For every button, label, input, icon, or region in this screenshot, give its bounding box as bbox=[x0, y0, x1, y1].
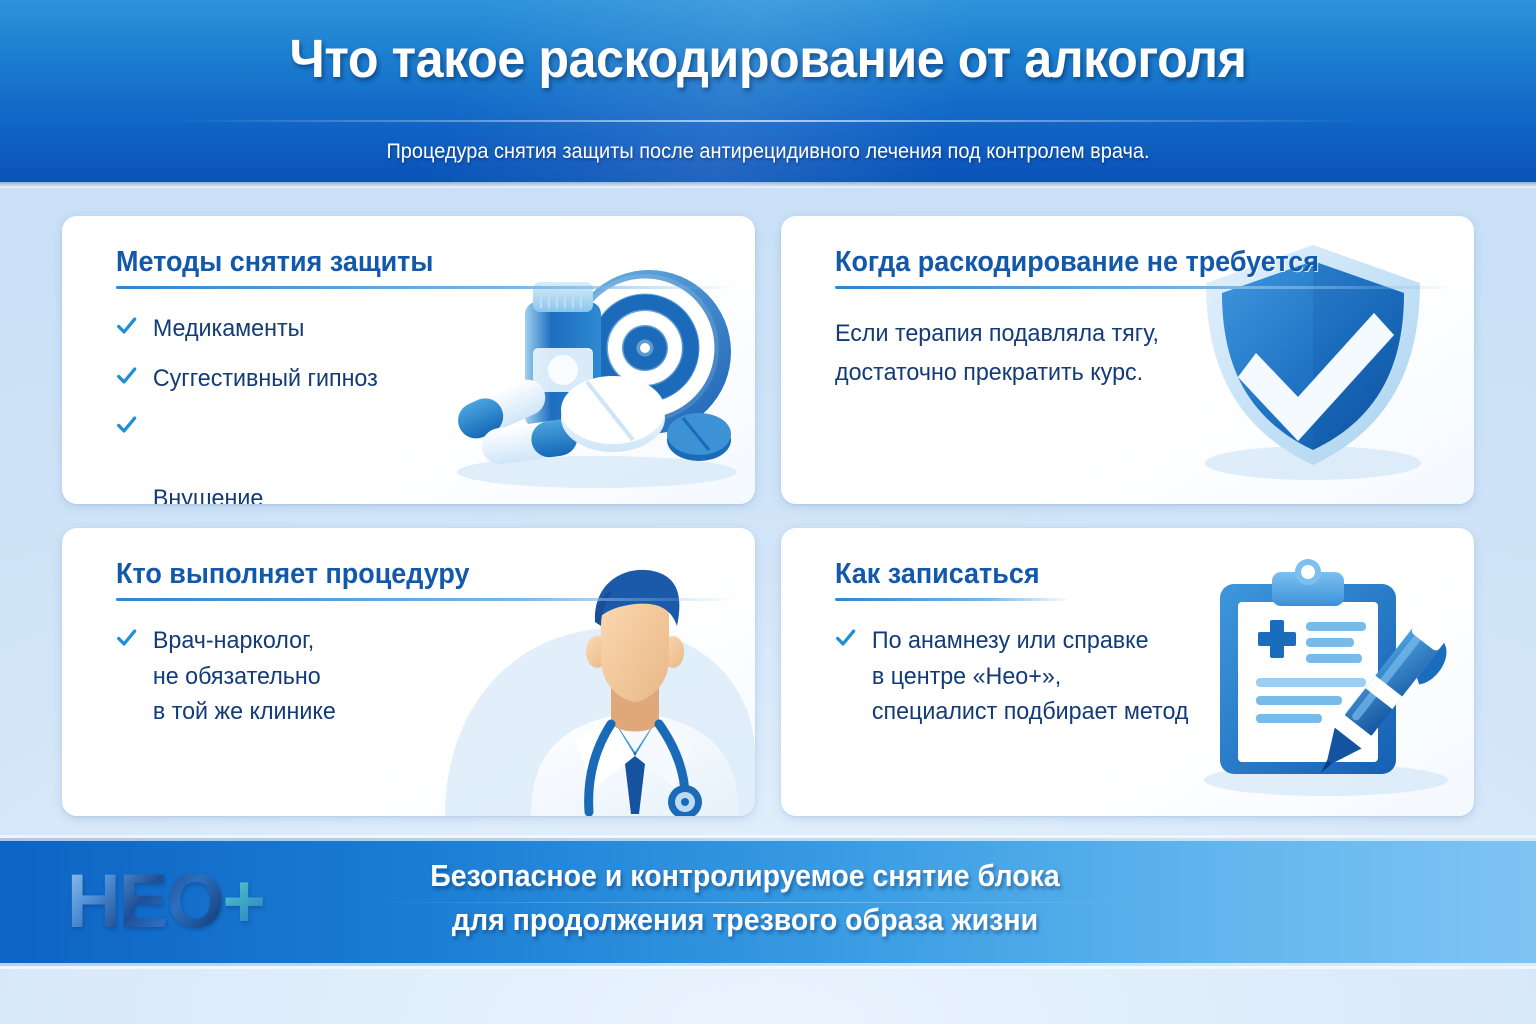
list-item[interactable]: Внушение по системе Довженко bbox=[116, 410, 716, 504]
list-item-label: Внушение по системе Довженко bbox=[153, 485, 386, 504]
card-who-performs-underline bbox=[116, 598, 735, 601]
check-icon bbox=[116, 315, 137, 337]
list-item[interactable]: По анамнезу или справке в центре «Нео+»,… bbox=[835, 623, 1435, 730]
footer-tagline-line-1: Безопасное и контролируемое снятие блока bbox=[391, 854, 1099, 898]
footer-tagline-divider bbox=[360, 902, 1150, 903]
check-icon bbox=[116, 627, 137, 649]
list-item[interactable]: Медикаменты bbox=[116, 311, 716, 347]
card-methods-underline bbox=[116, 286, 735, 289]
list-item[interactable]: Врач-нарколог, не обязательно в той же к… bbox=[116, 623, 716, 730]
card-who-performs[interactable]: Кто выполняет процедуру Врач-нарколог, н… bbox=[62, 528, 755, 816]
card-when-not-needed-heading: Когда раскодирование не требуется bbox=[835, 246, 1411, 279]
list-item-label: Суггестивный гипноз bbox=[153, 365, 378, 392]
brand-logo-plus-icon: + bbox=[222, 859, 264, 944]
cards-grid: Методы снятия защиты Медикаменты Суггест… bbox=[62, 216, 1474, 816]
list-item[interactable]: Суггестивный гипноз bbox=[116, 361, 716, 397]
card-when-not-needed-content: Когда раскодирование не требуется Если т… bbox=[835, 246, 1454, 393]
header-banner: Что такое раскодирование от алкоголя Про… bbox=[0, 0, 1536, 188]
page-subtitle: Процедура снятия защиты после антирециди… bbox=[38, 140, 1497, 164]
check-icon bbox=[116, 414, 137, 436]
footer-tagline: Безопасное и контролируемое снятие блока… bbox=[391, 854, 1099, 942]
card-who-performs-heading: Кто выполняет процедуру bbox=[116, 558, 692, 591]
card-when-not-needed-underline bbox=[835, 286, 1454, 289]
card-methods-list: Медикаменты Суггестивный гипноз Внушение… bbox=[116, 311, 735, 504]
check-icon bbox=[116, 365, 137, 387]
footer-tagline-line-2: для продолжения трезвого образа жизни bbox=[391, 898, 1099, 942]
card-when-not-needed-text: Если терапия подавляла тягу, достаточно … bbox=[835, 315, 1435, 393]
check-icon bbox=[835, 627, 856, 649]
card-how-to-book-heading: Как записаться bbox=[835, 558, 1411, 591]
brand-logo-text: НЕО bbox=[67, 859, 223, 944]
infographic-poster: Что такое раскодирование от алкоголя Про… bbox=[0, 0, 1536, 1024]
card-methods-content: Методы снятия защиты Медикаменты Суггест… bbox=[116, 246, 735, 504]
header-divider bbox=[168, 120, 1368, 122]
card-how-to-book-content: Как записаться По анамнезу или справке в… bbox=[835, 558, 1454, 744]
card-how-to-book-list: По анамнезу или справке в центре «Нео+»,… bbox=[835, 623, 1454, 730]
card-methods[interactable]: Методы снятия защиты Медикаменты Суггест… bbox=[62, 216, 755, 504]
card-when-not-needed[interactable]: Когда раскодирование не требуется Если т… bbox=[781, 216, 1474, 504]
card-how-to-book-underline bbox=[835, 598, 1071, 601]
page-title: Что такое раскодирование от алкоголя bbox=[54, 28, 1482, 90]
list-item-label: По анамнезу или справке в центре «Нео+»,… bbox=[872, 627, 1189, 725]
list-item-label: Врач-нарколог, не обязательно в той же к… bbox=[153, 627, 336, 725]
card-methods-heading: Методы снятия защиты bbox=[116, 246, 692, 279]
list-item-label: Медикаменты bbox=[153, 315, 305, 342]
card-who-performs-list: Врач-нарколог, не обязательно в той же к… bbox=[116, 623, 735, 730]
card-who-performs-content: Кто выполняет процедуру Врач-нарколог, н… bbox=[116, 558, 735, 744]
card-how-to-book[interactable]: Как записаться По анамнезу или справке в… bbox=[781, 528, 1474, 816]
brand-logo: НЕО+ bbox=[67, 852, 351, 954]
